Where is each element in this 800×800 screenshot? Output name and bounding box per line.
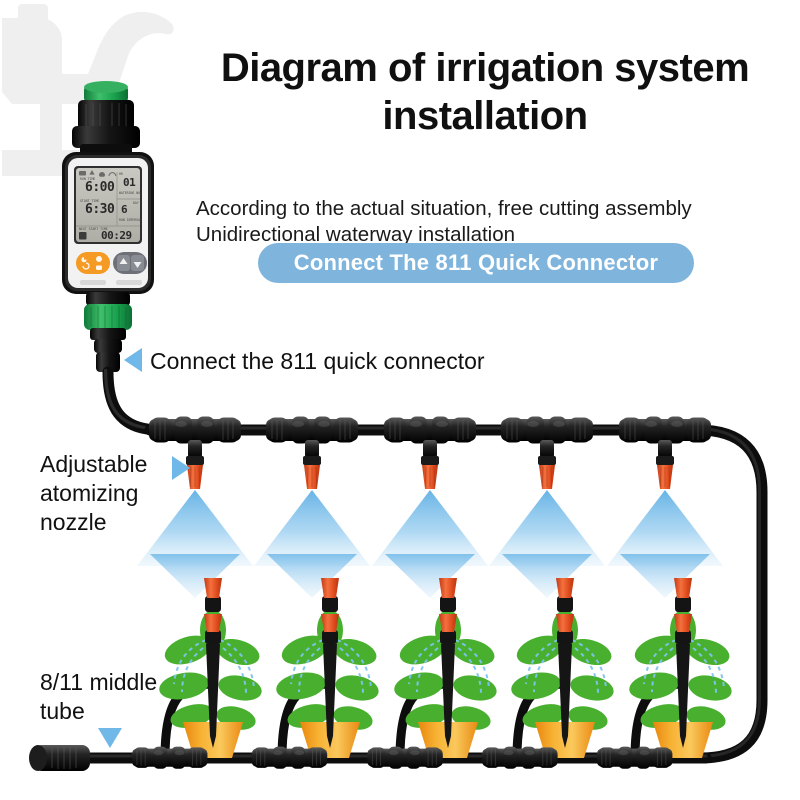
subtitle-block: According to the actual situation, free … (196, 196, 796, 248)
tube-end-cap (29, 745, 90, 771)
plant-station (509, 578, 616, 758)
subtitle-line-1: According to the actual situation, free … (196, 197, 692, 220)
atomizing-nozzle (254, 417, 370, 599)
lcd-cycle-label: WATERING NO. (119, 191, 142, 195)
lcd-run-time-value: 6:00 (85, 180, 114, 195)
lcd-days-label: RUN INTERVAL (119, 218, 142, 222)
lcd-days-unit: DAY (133, 201, 139, 205)
atomizing-nozzle (372, 417, 488, 599)
lcd-next-start-value: 00:29 (101, 229, 132, 242)
irrigation-diagram-page: Diagram of irrigation system installatio… (0, 0, 800, 800)
plant-station-row (157, 578, 734, 758)
atomizing-nozzle (489, 417, 605, 599)
callout-connector-label: Connect the 811 quick connector (150, 348, 485, 375)
callout-tube-label: 8/11 middle tube (40, 668, 200, 726)
lcd-days-value: 6 (121, 203, 127, 216)
quick-connector-banner[interactable]: Connect The 811 Quick Connector (258, 243, 694, 283)
tube-pointer-icon (98, 728, 122, 748)
page-title: Diagram of irrigation system installatio… (178, 44, 792, 140)
connector-pointer-icon (124, 348, 142, 372)
plant-station (627, 578, 734, 758)
atomizing-nozzle-row (137, 417, 723, 599)
lcd-start-time-value: 6:30 (85, 202, 114, 217)
atomizing-nozzle (607, 417, 723, 599)
lcd-cycle-value: 01 (123, 176, 135, 189)
quick-connector-banner-label: Connect The 811 Quick Connector (294, 250, 658, 276)
plant-station (274, 578, 381, 758)
plant-station (392, 578, 499, 758)
water-timer-device (62, 81, 154, 372)
callout-nozzle-label: Adjustable atomizing nozzle (40, 450, 190, 537)
